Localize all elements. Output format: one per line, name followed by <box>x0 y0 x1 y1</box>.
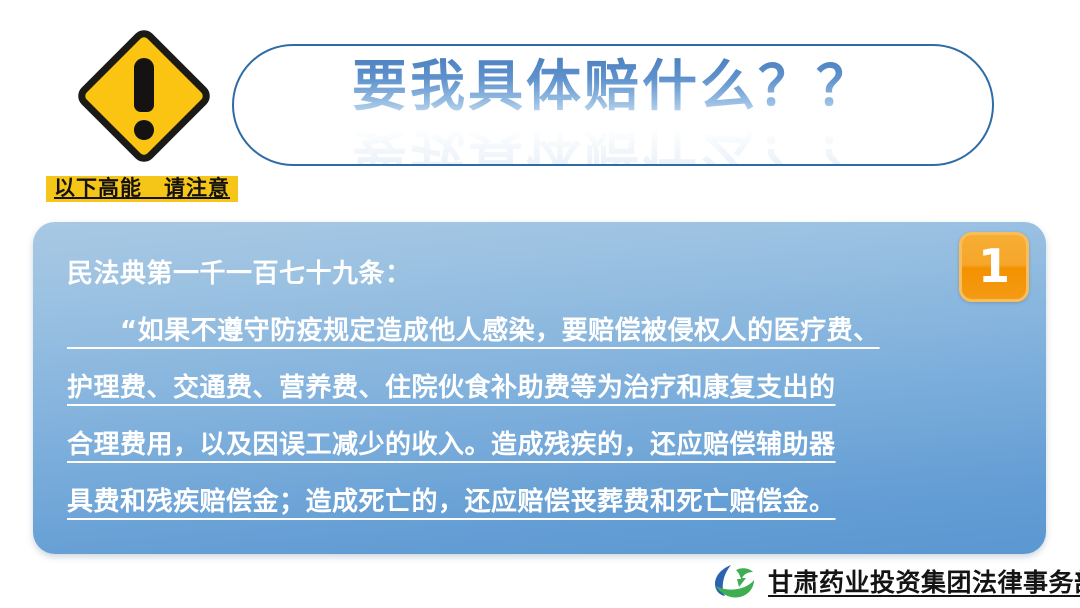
exclamation-dot <box>134 120 154 140</box>
law-content-panel: 1 民法典第一千一百七十九条： “如果不遵守防疫规定造成他人感染，要赔偿被侵权人… <box>33 222 1046 554</box>
law-text-block: 民法典第一千一百七十九条： “如果不遵守防疫规定造成他人感染，要赔偿被侵权人的医… <box>67 246 1028 531</box>
law-line: 护理费、交通费、营养费、住院伙食补助费等为治疗和康复支出的 <box>67 360 1028 417</box>
exclamation-warning-sign <box>68 20 220 172</box>
title-container: 要我具体赔什么？？ <box>234 54 992 117</box>
page-title: 要我具体赔什么？？ <box>352 54 874 117</box>
organization-name: 甘肃药业投资集团法律事务部 <box>768 563 1080 599</box>
warning-caption-text: 以下高能 请注意 <box>54 176 230 200</box>
title-reflection: 要我具体赔什么？？ <box>234 124 992 166</box>
slide-canvas: 以下高能 请注意 要我具体赔什么？？ 要我具体赔什么？？ 1 民法典第一千一百七… <box>0 0 1080 608</box>
warning-caption-banner: 以下高能 请注意 <box>46 176 238 202</box>
law-line: 民法典第一千一百七十九条： <box>67 246 1028 303</box>
title-reflection-text: 要我具体赔什么？？ <box>352 124 874 166</box>
law-line: “如果不遵守防疫规定造成他人感染，要赔偿被侵权人的医疗费、 <box>67 303 1028 360</box>
exclamation-mark-icon <box>68 20 220 172</box>
footer-brand: 甘肃药业投资集团法律事务部 <box>712 562 1080 600</box>
law-line: 具费和残疾赔偿金；造成死亡的，还应赔偿丧葬费和死亡赔偿金。 <box>67 474 1028 531</box>
gansu-pharma-leaf-icon <box>712 562 756 600</box>
exclamation-stem <box>134 58 154 112</box>
leaf-logo-svg <box>712 562 756 600</box>
title-bubble: 要我具体赔什么？？ 要我具体赔什么？？ <box>232 44 994 166</box>
law-line: 合理费用，以及因误工减少的收入。造成残疾的，还应赔偿辅助器 <box>67 417 1028 474</box>
